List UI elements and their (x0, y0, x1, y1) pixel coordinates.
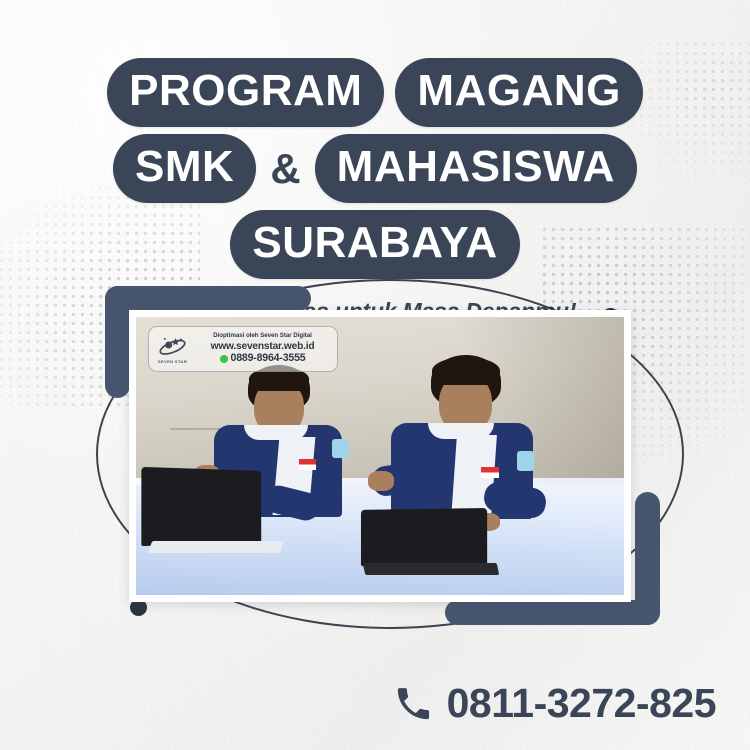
seven-star-logo-label: SEVEN STAR (158, 359, 187, 364)
poster: PROGRAM MAGANG SMK & MAHASISWA SURABAYA … (0, 0, 750, 750)
photo-frame-block: SEVEN STAR Dioptimasi oleh Seven Star Di… (97, 282, 657, 642)
headline-line-2: SMK & MAHASISWA (0, 134, 750, 203)
photo-students: SEVEN STAR Dioptimasi oleh Seven Star Di… (136, 317, 624, 595)
headline-pill-surabaya: SURABAYA (230, 210, 519, 279)
watermark-line-phone: 0889-8964-3555 (195, 353, 330, 365)
headline-pill-smk: SMK (113, 134, 256, 203)
watermark-text-lines: Dioptimasi oleh Seven Star Digital www.s… (195, 333, 330, 365)
corner-bracket-bottom-right-vertical (635, 492, 660, 625)
photo-laptop-right-base (363, 563, 500, 575)
headline-line-3: SURABAYA (0, 210, 750, 279)
headline-pill-mahasiswa: MAHASISWA (315, 134, 637, 203)
phone-number: 0811-3272-825 (447, 683, 716, 724)
headline-ampersand: & (267, 148, 303, 190)
headline-pill-program: PROGRAM (107, 58, 384, 127)
photo-laptop-right (361, 508, 487, 568)
whatsapp-icon (220, 355, 228, 363)
phone-icon (395, 686, 431, 722)
watermark-line-website: www.sevenstar.web.id (195, 341, 330, 352)
corner-bracket-top-left-vertical (105, 286, 130, 398)
corner-bracket-bottom-right-horizontal (445, 600, 660, 625)
watermark-phone-text: 0889-8964-3555 (231, 353, 306, 365)
headline-pill-magang: MAGANG (395, 58, 642, 127)
watermark-line-optimized: Dioptimasi oleh Seven Star Digital (195, 333, 330, 340)
corner-bracket-top-left-horizontal (105, 286, 311, 311)
photo-laptop-left-base (148, 541, 284, 553)
seven-star-logo-icon: SEVEN STAR (156, 333, 189, 366)
headline-line-1: PROGRAM MAGANG (0, 58, 750, 127)
photo-container: SEVEN STAR Dioptimasi oleh Seven Star Di… (129, 310, 631, 602)
footer-contact: 0811-3272-825 (0, 683, 716, 724)
photo-laptop-left (141, 467, 261, 546)
watermark-badge: SEVEN STAR Dioptimasi oleh Seven Star Di… (148, 326, 338, 372)
